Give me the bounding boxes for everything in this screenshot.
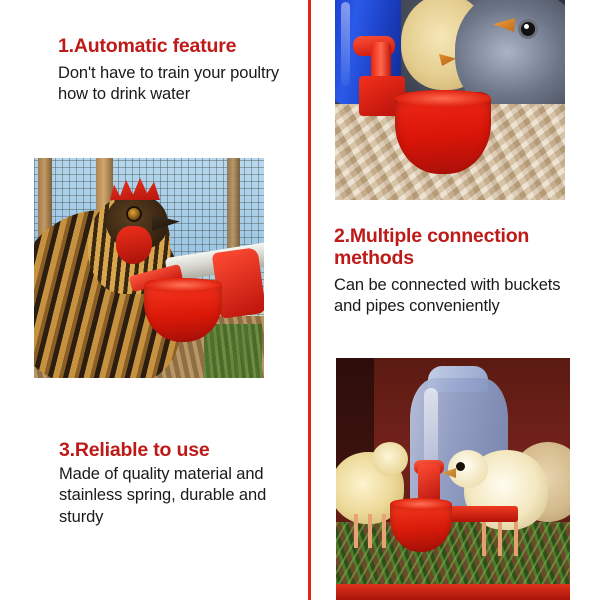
feature-block-reliable-to-use: 3.Reliable to use Made of quality materi… [59, 440, 311, 528]
red-base-tray [336, 584, 570, 600]
photo-hen-coop-scene [34, 158, 264, 378]
photo-chicks-jug [336, 358, 570, 600]
hen-eye [128, 208, 140, 220]
chick-center-legs [482, 520, 520, 556]
feature-3-body: Made of quality material and stainless s… [59, 464, 311, 528]
feature-1-heading: 1.Automatic feature [58, 36, 306, 58]
photo-hen-coop [34, 158, 264, 378]
grass-patch [204, 324, 262, 378]
red-cup-waterer-rim [144, 278, 222, 292]
feature-block-multiple-connection-methods: 2.Multiple connection methods Can be con… [334, 226, 586, 318]
photo-chicks-bucket [335, 0, 565, 200]
feature-block-automatic-feature: 1.Automatic feature Don't have to train … [58, 36, 306, 106]
feature-3-heading: 3.Reliable to use [59, 440, 311, 462]
chick-grey-eye [521, 22, 535, 36]
chick-left-head [372, 442, 408, 476]
feature-2-heading: 2.Multiple connection methods [334, 226, 586, 270]
feature-2-body: Can be connected with buckets and pipes … [334, 275, 586, 318]
red-cup-waterer-rim [395, 90, 491, 107]
red-cup-waterer-rim [390, 498, 452, 510]
chick-left-legs [354, 514, 388, 548]
product-feature-infographic: 1.Automatic feature Don't have to train … [0, 0, 600, 600]
feature-1-body: Don't have to train your poultry how to … [58, 63, 306, 106]
photo-chicks-jug-scene [336, 358, 570, 600]
chick-center-eye [456, 462, 465, 471]
photo-chicks-bucket-scene [335, 0, 565, 200]
